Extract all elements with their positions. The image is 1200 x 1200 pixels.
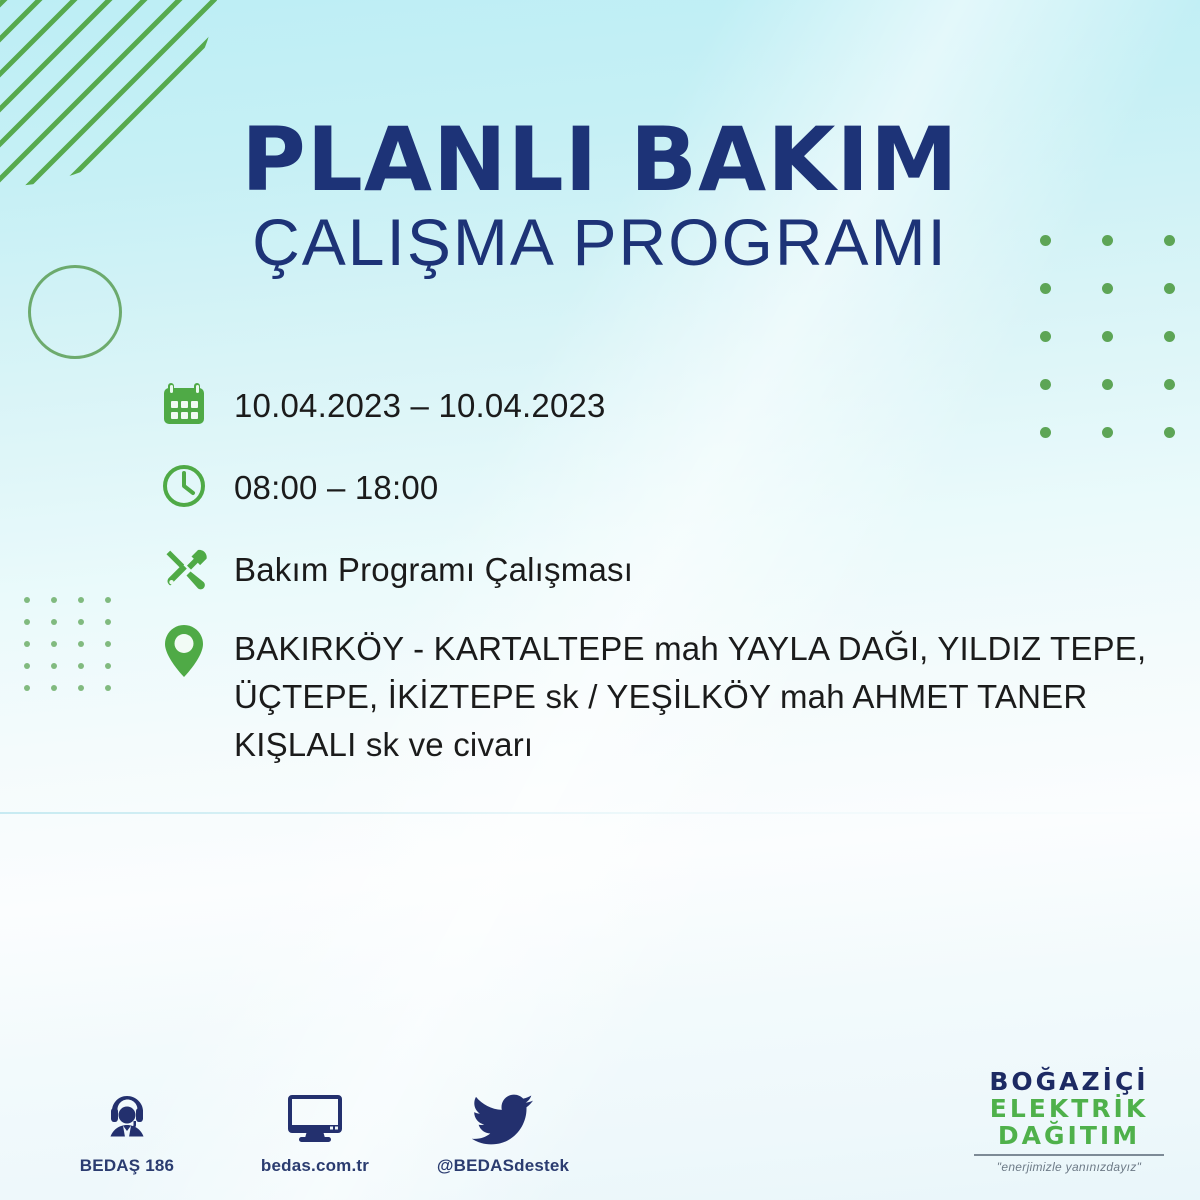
bedas-logo: BOĞAZİÇİ ELEKTRİK DAĞITIM "enerjimizle y…: [964, 1068, 1174, 1174]
contact-website[interactable]: bedas.com.tr: [250, 1084, 380, 1176]
clock-icon: [160, 460, 234, 510]
info-row-date: 10.04.2023 – 10.04.2023: [160, 378, 1160, 430]
logo-divider: [974, 1154, 1164, 1156]
info-row-time: 08:00 – 18:00: [160, 460, 1160, 512]
logo-tagline: "enerjimizle yanınızdayız": [964, 1160, 1174, 1174]
info-row-work-label: Bakım Programı Çalışması: [234, 542, 633, 594]
contact-twitter[interactable]: @BEDASdestek: [438, 1084, 568, 1176]
footer-contacts: BEDAŞ 186 bedas.com.tr: [62, 1084, 568, 1176]
location-pin-icon: [160, 621, 234, 679]
info-row-date-label: 10.04.2023 – 10.04.2023: [234, 378, 606, 430]
contact-website-label: bedas.com.tr: [261, 1156, 369, 1176]
contact-twitter-label: @BEDASdestek: [437, 1156, 569, 1176]
logo-line-elektrik: ELEKTRİK: [964, 1095, 1174, 1122]
dot-grid-left-decoration: [24, 597, 114, 692]
poster-canvas: PLANLI BAKIM ÇALIŞMA PROGRAMI: [0, 0, 1200, 1200]
circle-outline-decoration: [28, 265, 122, 359]
tools-icon: [160, 542, 234, 594]
page-subtitle: ÇALIŞMA PROGRAMI: [0, 208, 1200, 277]
info-row-work: Bakım Programı Çalışması: [160, 542, 1160, 594]
contact-phone[interactable]: BEDAŞ 186: [62, 1084, 192, 1176]
info-row-time-label: 08:00 – 18:00: [234, 460, 438, 512]
twitter-bird-icon: [472, 1084, 534, 1146]
monitor-icon: [285, 1084, 345, 1146]
logo-line-dagitim: DAĞITIM: [964, 1122, 1174, 1149]
info-list: 10.04.2023 – 10.04.2023 08:00 – 18:00: [160, 378, 1160, 791]
contact-phone-label: BEDAŞ 186: [80, 1156, 174, 1176]
poster-title-block: PLANLI BAKIM ÇALIŞMA PROGRAMI: [0, 118, 1200, 278]
page-title: PLANLI BAKIM: [0, 118, 1200, 202]
info-row-location: BAKIRKÖY - KARTALTEPE mah YAYLA DAĞI, YI…: [160, 621, 1160, 770]
background-band: [0, 812, 1200, 814]
info-row-location-label: BAKIRKÖY - KARTALTEPE mah YAYLA DAĞI, YI…: [234, 621, 1160, 770]
support-headset-icon: [99, 1084, 155, 1146]
calendar-icon: [160, 378, 234, 428]
logo-line-bogazici: BOĞAZİÇİ: [964, 1068, 1174, 1095]
